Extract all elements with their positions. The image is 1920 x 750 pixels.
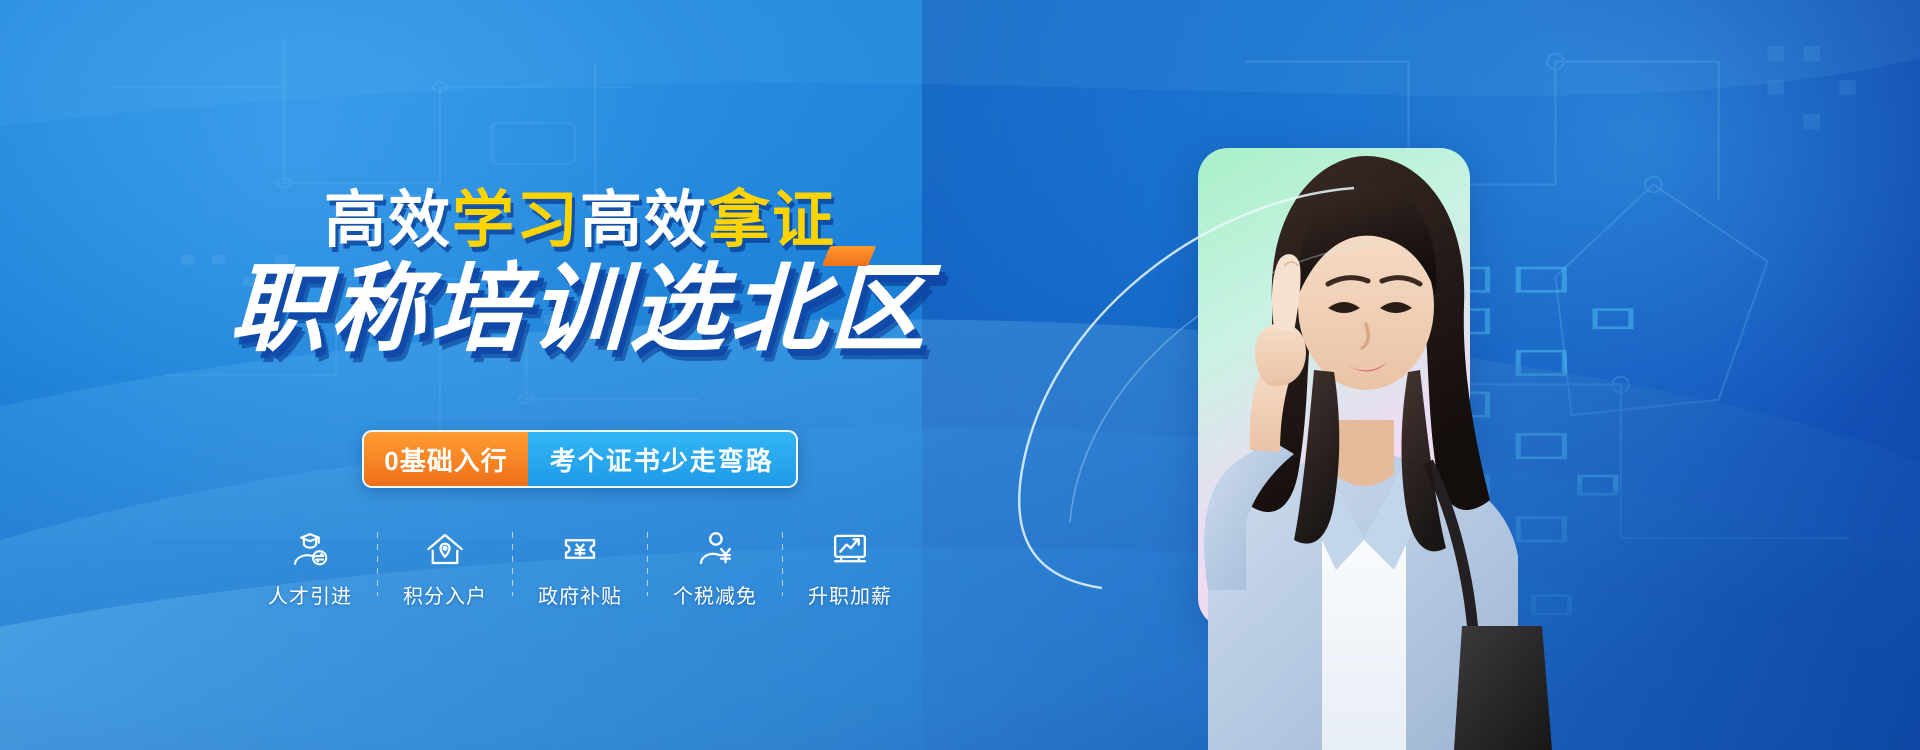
chart-monitor-icon (829, 528, 871, 570)
headline-top-seg-3: 高效 (580, 186, 708, 255)
feature-label: 个税减免 (673, 580, 757, 609)
feature-item-tax-reduction[interactable]: 个税减免 (648, 528, 782, 609)
person-yuan-icon (694, 528, 736, 570)
headline-top-seg-1: 高效 (324, 186, 452, 255)
promo-banner: 高效学习高效拿证 职称培训选北区 0基础入行 考个证书少走弯路 (0, 0, 1920, 750)
graduate-person-icon (289, 528, 331, 570)
feature-list: 人才引进 积分入户 (0, 528, 1160, 609)
orange-accent-slash-icon (822, 246, 876, 266)
tagline-badge: 0基础入行 考个证书少走弯路 (362, 430, 797, 488)
feature-item-promotion-raise[interactable]: 升职加薪 (783, 528, 917, 609)
headline-main: 职称培训选北区 (0, 262, 1162, 358)
badge-right-label: 考个证书少走弯路 (528, 432, 796, 486)
headline-top-seg-4: 拿证 (708, 186, 836, 255)
feature-label: 升职加薪 (808, 580, 892, 609)
feature-label: 积分入户 (403, 580, 487, 609)
voucher-yuan-icon (559, 528, 601, 570)
badge-left-label: 0基础入行 (364, 432, 527, 486)
headline-top-seg-2: 学习 (452, 186, 580, 255)
feature-label: 政府补贴 (538, 580, 622, 609)
house-pin-icon (424, 528, 466, 570)
feature-item-points-residency[interactable]: 积分入户 (378, 528, 512, 609)
feature-label: 人才引进 (268, 580, 352, 609)
feature-item-government-subsidy[interactable]: 政府补贴 (513, 528, 647, 609)
headline-top: 高效学习高效拿证 (0, 190, 1160, 252)
banner-content: 高效学习高效拿证 职称培训选北区 0基础入行 考个证书少走弯路 (0, 0, 1160, 750)
tagline-badge-wrap: 0基础入行 考个证书少走弯路 (0, 430, 1160, 488)
feature-item-talent-intro[interactable]: 人才引进 (243, 528, 377, 609)
